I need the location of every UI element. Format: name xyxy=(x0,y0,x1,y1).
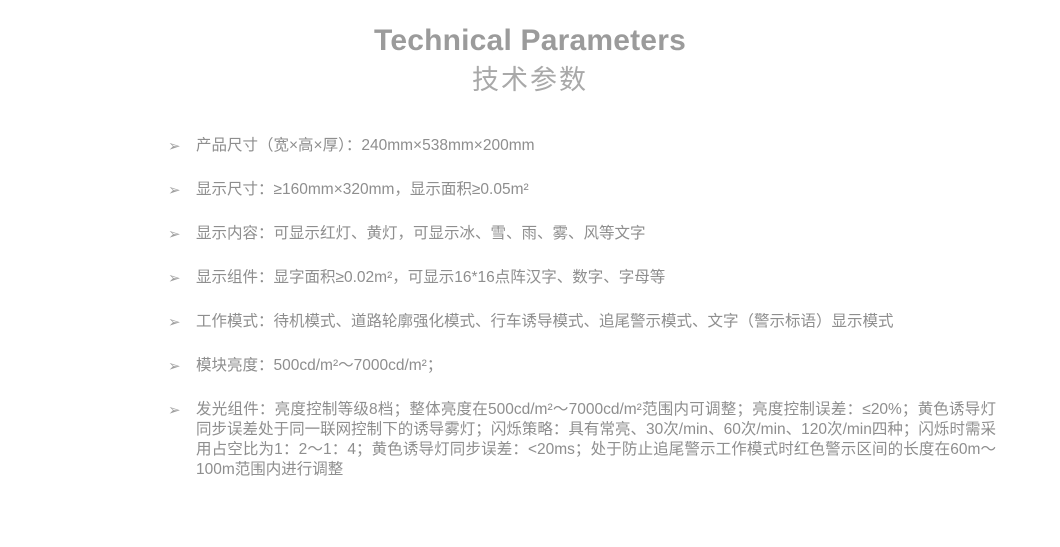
list-item: ➢ 显示组件：显字面积≥0.02m²，可显示16*16点阵汉字、数字、字母等 xyxy=(168,268,968,288)
arrowhead-bullet-icon: ➢ xyxy=(168,312,181,332)
page-title-chinese: 技术参数 xyxy=(0,62,1060,98)
arrowhead-bullet-icon: ➢ xyxy=(168,180,181,200)
page-title-english: Technical Parameters xyxy=(0,22,1060,60)
spec-item-text: 模块亮度：500cd/m²～7000cd/m²； xyxy=(196,356,968,376)
list-item: ➢ 工作模式：待机模式、道路轮廓强化模式、行车诱导模式、追尾警示模式、文字（警示… xyxy=(168,312,996,332)
arrowhead-bullet-icon: ➢ xyxy=(168,224,181,244)
spec-item-text: 显示尺寸：≥160mm×320mm，显示面积≥0.05m² xyxy=(196,180,968,200)
list-item: ➢ 产品尺寸（宽×高×厚）：240mm×538mm×200mm xyxy=(168,136,968,156)
spec-item-text: 显示内容：可显示红灯、黄灯，可显示冰、雪、雨、雾、风等文字 xyxy=(196,224,968,244)
arrowhead-bullet-icon: ➢ xyxy=(168,356,181,376)
list-item: ➢ 发光组件：亮度控制等级8档；整体亮度在500cd/m²～7000cd/m²范… xyxy=(168,400,996,480)
arrowhead-bullet-icon: ➢ xyxy=(168,136,181,156)
page-heading: Technical Parameters 技术参数 xyxy=(0,0,1060,98)
list-item: ➢ 显示尺寸：≥160mm×320mm，显示面积≥0.05m² xyxy=(168,180,968,200)
arrowhead-bullet-icon: ➢ xyxy=(168,400,181,420)
specification-list: ➢ 产品尺寸（宽×高×厚）：240mm×538mm×200mm ➢ 显示尺寸：≥… xyxy=(168,136,968,480)
technical-parameters-page: Technical Parameters 技术参数 ➢ 产品尺寸（宽×高×厚）：… xyxy=(0,0,1060,547)
list-item: ➢ 显示内容：可显示红灯、黄灯，可显示冰、雪、雨、雾、风等文字 xyxy=(168,224,968,244)
spec-item-text: 工作模式：待机模式、道路轮廓强化模式、行车诱导模式、追尾警示模式、文字（警示标语… xyxy=(196,312,996,332)
list-item: ➢ 模块亮度：500cd/m²～7000cd/m²； xyxy=(168,356,968,376)
spec-item-text: 产品尺寸（宽×高×厚）：240mm×538mm×200mm xyxy=(196,136,968,156)
spec-item-text: 显示组件：显字面积≥0.02m²，可显示16*16点阵汉字、数字、字母等 xyxy=(196,268,968,288)
spec-item-text: 发光组件：亮度控制等级8档；整体亮度在500cd/m²～7000cd/m²范围内… xyxy=(196,400,996,480)
arrowhead-bullet-icon: ➢ xyxy=(168,268,181,288)
